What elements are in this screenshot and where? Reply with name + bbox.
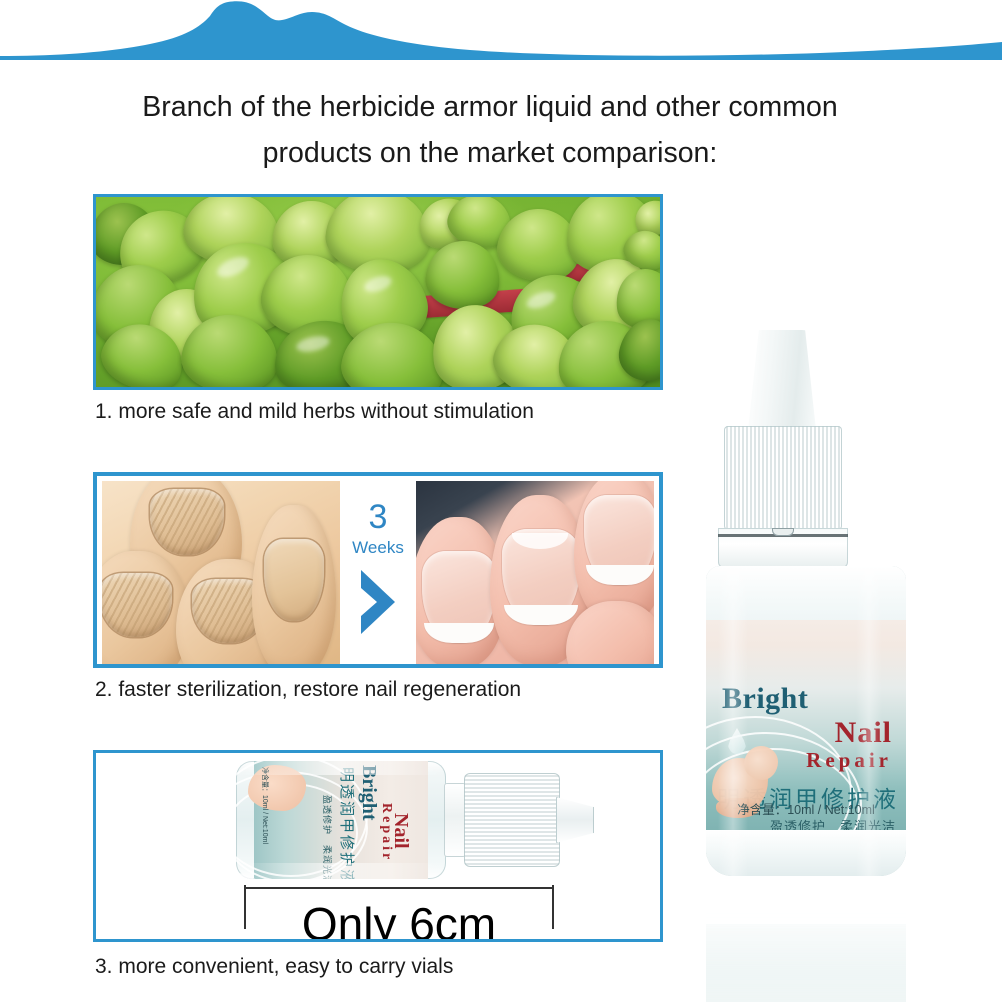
headline-line-1: Branch of the herbicide armor liquid and… <box>50 84 930 130</box>
product-advantages-page: Product advantages Branch of the herbici… <box>0 0 1002 1002</box>
bottle-dropper-tip <box>748 330 816 430</box>
nails-after-photo <box>416 481 654 668</box>
horizontal-bottle-illustration: Bright Nail Repair 明透润甲修护液 盈透修护 柔润光洁 净含量… <box>236 761 566 879</box>
page-headline: Branch of the herbicide armor liquid and… <box>50 84 930 176</box>
chevron-right-icon <box>355 568 401 638</box>
advantage-image-frame-sterilization: 3 Weeks <box>93 472 663 668</box>
duration-number: 3 <box>340 498 416 537</box>
small-bottle-brand-line3: Repair <box>378 803 394 862</box>
measurement-label: Only 6cm <box>244 897 554 942</box>
succulent-plant-photo <box>96 197 660 387</box>
small-bottle-dropper-tip <box>556 797 594 843</box>
small-bottle-net-content: 净含量：10ml / Net:10ml <box>260 767 270 844</box>
bottle-body: Bright Nail Repair 明透润甲修护液 盈透修护 柔润光洁 净含量… <box>706 566 906 876</box>
headline-line-2: products on the market comparison: <box>50 130 930 176</box>
bottle-cap-nub <box>772 528 794 536</box>
banner-title: Product advantages <box>679 9 960 42</box>
duration-unit: Weeks <box>340 538 416 558</box>
size-ruler: Only 6cm <box>244 887 554 888</box>
bottle-ribbed-cap <box>724 426 842 530</box>
nails-before-photo <box>102 481 340 668</box>
product-bottle-illustration: Bright Nail Repair 明透润甲修护液 盈透修护 柔润光洁 净含量… <box>700 330 912 890</box>
header-banner: Product advantages <box>0 0 1002 60</box>
advantage-image-frame-herbs <box>93 194 663 390</box>
advantage-image-frame-portable: Bright Nail Repair 明透润甲修护液 盈透修护 柔润光洁 净含量… <box>93 750 663 942</box>
bottle-reflection <box>706 878 906 1002</box>
small-bottle-cap <box>464 773 560 867</box>
advantage-caption-herbs: 1. more safe and mild herbs without stim… <box>95 400 534 424</box>
advantage-caption-portable: 3. more convenient, easy to carry vials <box>95 955 453 979</box>
before-after-divider: 3 Weeks <box>340 476 416 664</box>
small-bottle-neck <box>444 783 466 857</box>
advantage-caption-sterilization: 2. faster sterilization, restore nail re… <box>95 678 521 702</box>
